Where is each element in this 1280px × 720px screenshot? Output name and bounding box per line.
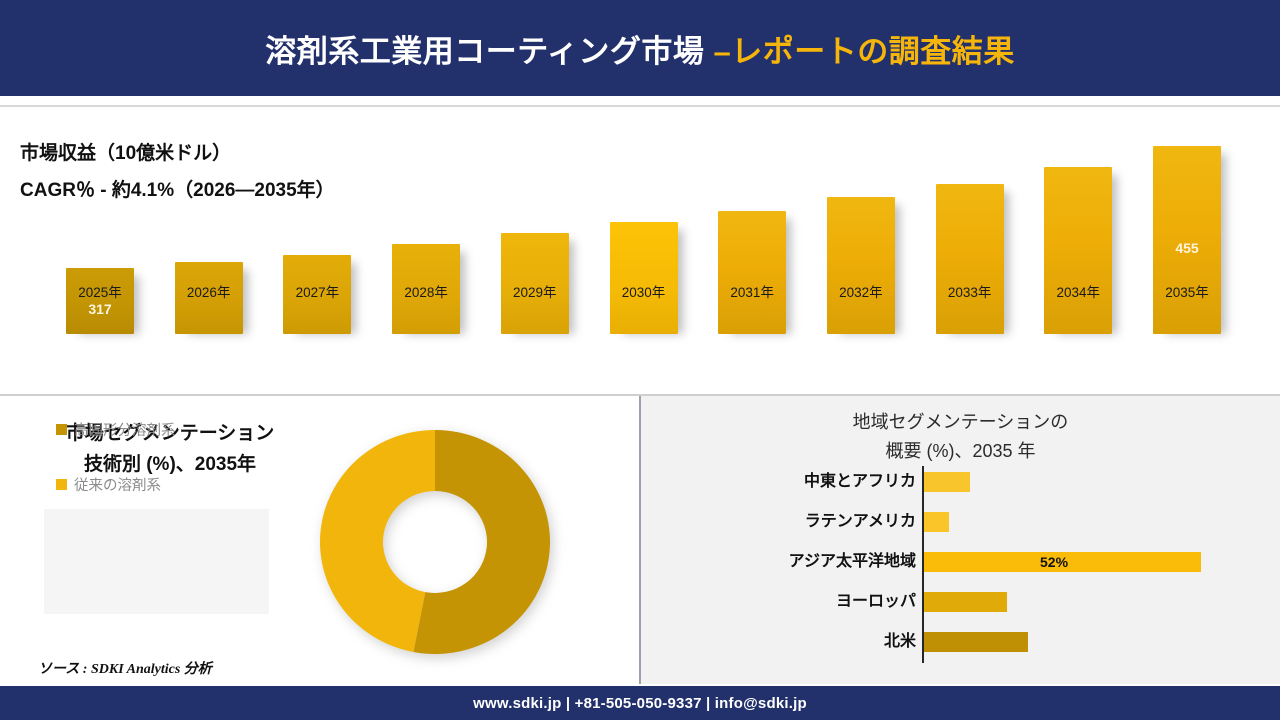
region-title: 地域セグメンテーションの 概要 (%)、2035 年: [641, 408, 1280, 466]
revenue-bar-category-label: 2033年: [936, 281, 1004, 301]
revenue-bar: 455: [1153, 146, 1221, 334]
segmentation-panel: 市場セグメンテーション 技術別 (%)、2035年 高固形分溶剤系 従来の溶剤系…: [0, 396, 639, 684]
legend-item-high-solids: 高固形分溶剤系: [56, 419, 176, 440]
revenue-bar-value-label: 455: [1153, 240, 1221, 256]
revenue-bar-category-label: 2031年: [718, 281, 786, 301]
region-row: 中東とアフリカ: [641, 469, 1280, 495]
legend-swatch-icon: [56, 479, 67, 490]
revenue-chart-section: 市場収益（10億米ドル） CAGR％ - 約4.1%（2026―2035年） 3…: [0, 107, 1280, 395]
region-label: 北米: [646, 629, 916, 655]
revenue-bar-category-label: 2028年: [392, 281, 460, 301]
region-bar: 52%: [924, 552, 1201, 572]
region-label: ヨーロッパ: [646, 589, 916, 615]
revenue-bar-category-label: 2026年: [175, 281, 243, 301]
region-row: ラテンアメリカ: [641, 509, 1280, 535]
revenue-bar-column: 2032年: [827, 197, 895, 334]
revenue-bars-area: 3172025年2026年2027年2028年2029年2030年2031年20…: [0, 107, 1280, 395]
region-panel: 地域セグメンテーションの 概要 (%)、2035 年 中東とアフリカラテンアメリ…: [641, 396, 1280, 684]
region-bar: [924, 592, 1007, 612]
revenue-bar-column: 2031年: [718, 211, 786, 334]
region-label: ラテンアメリカ: [646, 509, 916, 535]
revenue-bar: 317: [66, 268, 134, 334]
revenue-bar-column: 2027年: [283, 255, 351, 334]
revenue-bar: [936, 184, 1004, 334]
region-title-line1: 地域セグメンテーションの: [641, 408, 1280, 437]
revenue-bar-column: 2028年: [392, 244, 460, 334]
donut-slice: [320, 430, 435, 652]
region-bar: [924, 632, 1028, 652]
region-bar-value-label: 52%: [1040, 552, 1068, 572]
region-row: アジア太平洋地域52%: [641, 549, 1280, 575]
infographic-page: 溶剤系工業用コーティング市場 –レポートの調査結果 市場収益（10億米ドル） C…: [0, 0, 1280, 720]
region-row: ヨーロッパ: [641, 589, 1280, 615]
revenue-bar: [1044, 167, 1112, 334]
page-title-accent: –レポートの調査結果: [714, 34, 1015, 69]
legend-label-high-solids: 高固形分溶剤系: [74, 419, 176, 440]
region-title-line2: 概要 (%)、2035 年: [641, 437, 1280, 466]
revenue-bar-column: 4552035年: [1153, 146, 1221, 334]
region-row: 北米: [641, 629, 1280, 655]
donut-legend: [44, 509, 269, 614]
revenue-bar-column: 2026年: [175, 262, 243, 334]
header-banner: 溶剤系工業用コーティング市場 –レポートの調査結果: [0, 0, 1280, 96]
revenue-bar-column: 2033年: [936, 184, 1004, 334]
donut-svg: [305, 416, 565, 668]
revenue-bar-value-label: 317: [66, 301, 134, 317]
segmentation-title-line2: 技術別 (%)、2035年: [0, 449, 340, 480]
revenue-bar-column: 3172025年: [66, 268, 134, 334]
legend-swatch-icon: [56, 424, 67, 435]
page-title-main: 溶剤系工業用コーティング市場: [265, 34, 704, 69]
revenue-bar-column: 2029年: [501, 233, 569, 334]
revenue-bar-category-label: 2035年: [1153, 281, 1221, 301]
revenue-bar-category-label: 2029年: [501, 281, 569, 301]
revenue-bar: [610, 222, 678, 334]
revenue-bar-category-label: 2025年: [66, 281, 134, 301]
region-label: アジア太平洋地域: [646, 549, 916, 575]
revenue-bar-category-label: 2032年: [827, 281, 895, 301]
revenue-bar-column: 2030年: [610, 222, 678, 334]
revenue-bar-category-label: 2030年: [610, 281, 678, 301]
source-note: ソース : SDKI Analytics 分析: [38, 658, 212, 678]
revenue-bar-category-label: 2027年: [283, 281, 351, 301]
revenue-bar: [827, 197, 895, 334]
footer-contact-text: www.sdki.jp | +81-505-050-9337 | info@sd…: [473, 695, 807, 712]
footer-bar: www.sdki.jp | +81-505-050-9337 | info@sd…: [0, 686, 1280, 720]
revenue-bar-column: 2034年: [1044, 167, 1112, 334]
region-label: 中東とアフリカ: [646, 469, 916, 495]
donut-chart: [305, 416, 565, 668]
region-bar: [924, 512, 949, 532]
region-bar: [924, 472, 970, 492]
revenue-bar-category-label: 2034年: [1044, 281, 1112, 301]
legend-label-conventional: 従来の溶剤系: [74, 474, 161, 495]
legend-item-conventional: 従来の溶剤系: [56, 474, 161, 495]
page-title: 溶剤系工業用コーティング市場 –レポートの調査結果: [265, 26, 1015, 71]
revenue-bar: [718, 211, 786, 334]
